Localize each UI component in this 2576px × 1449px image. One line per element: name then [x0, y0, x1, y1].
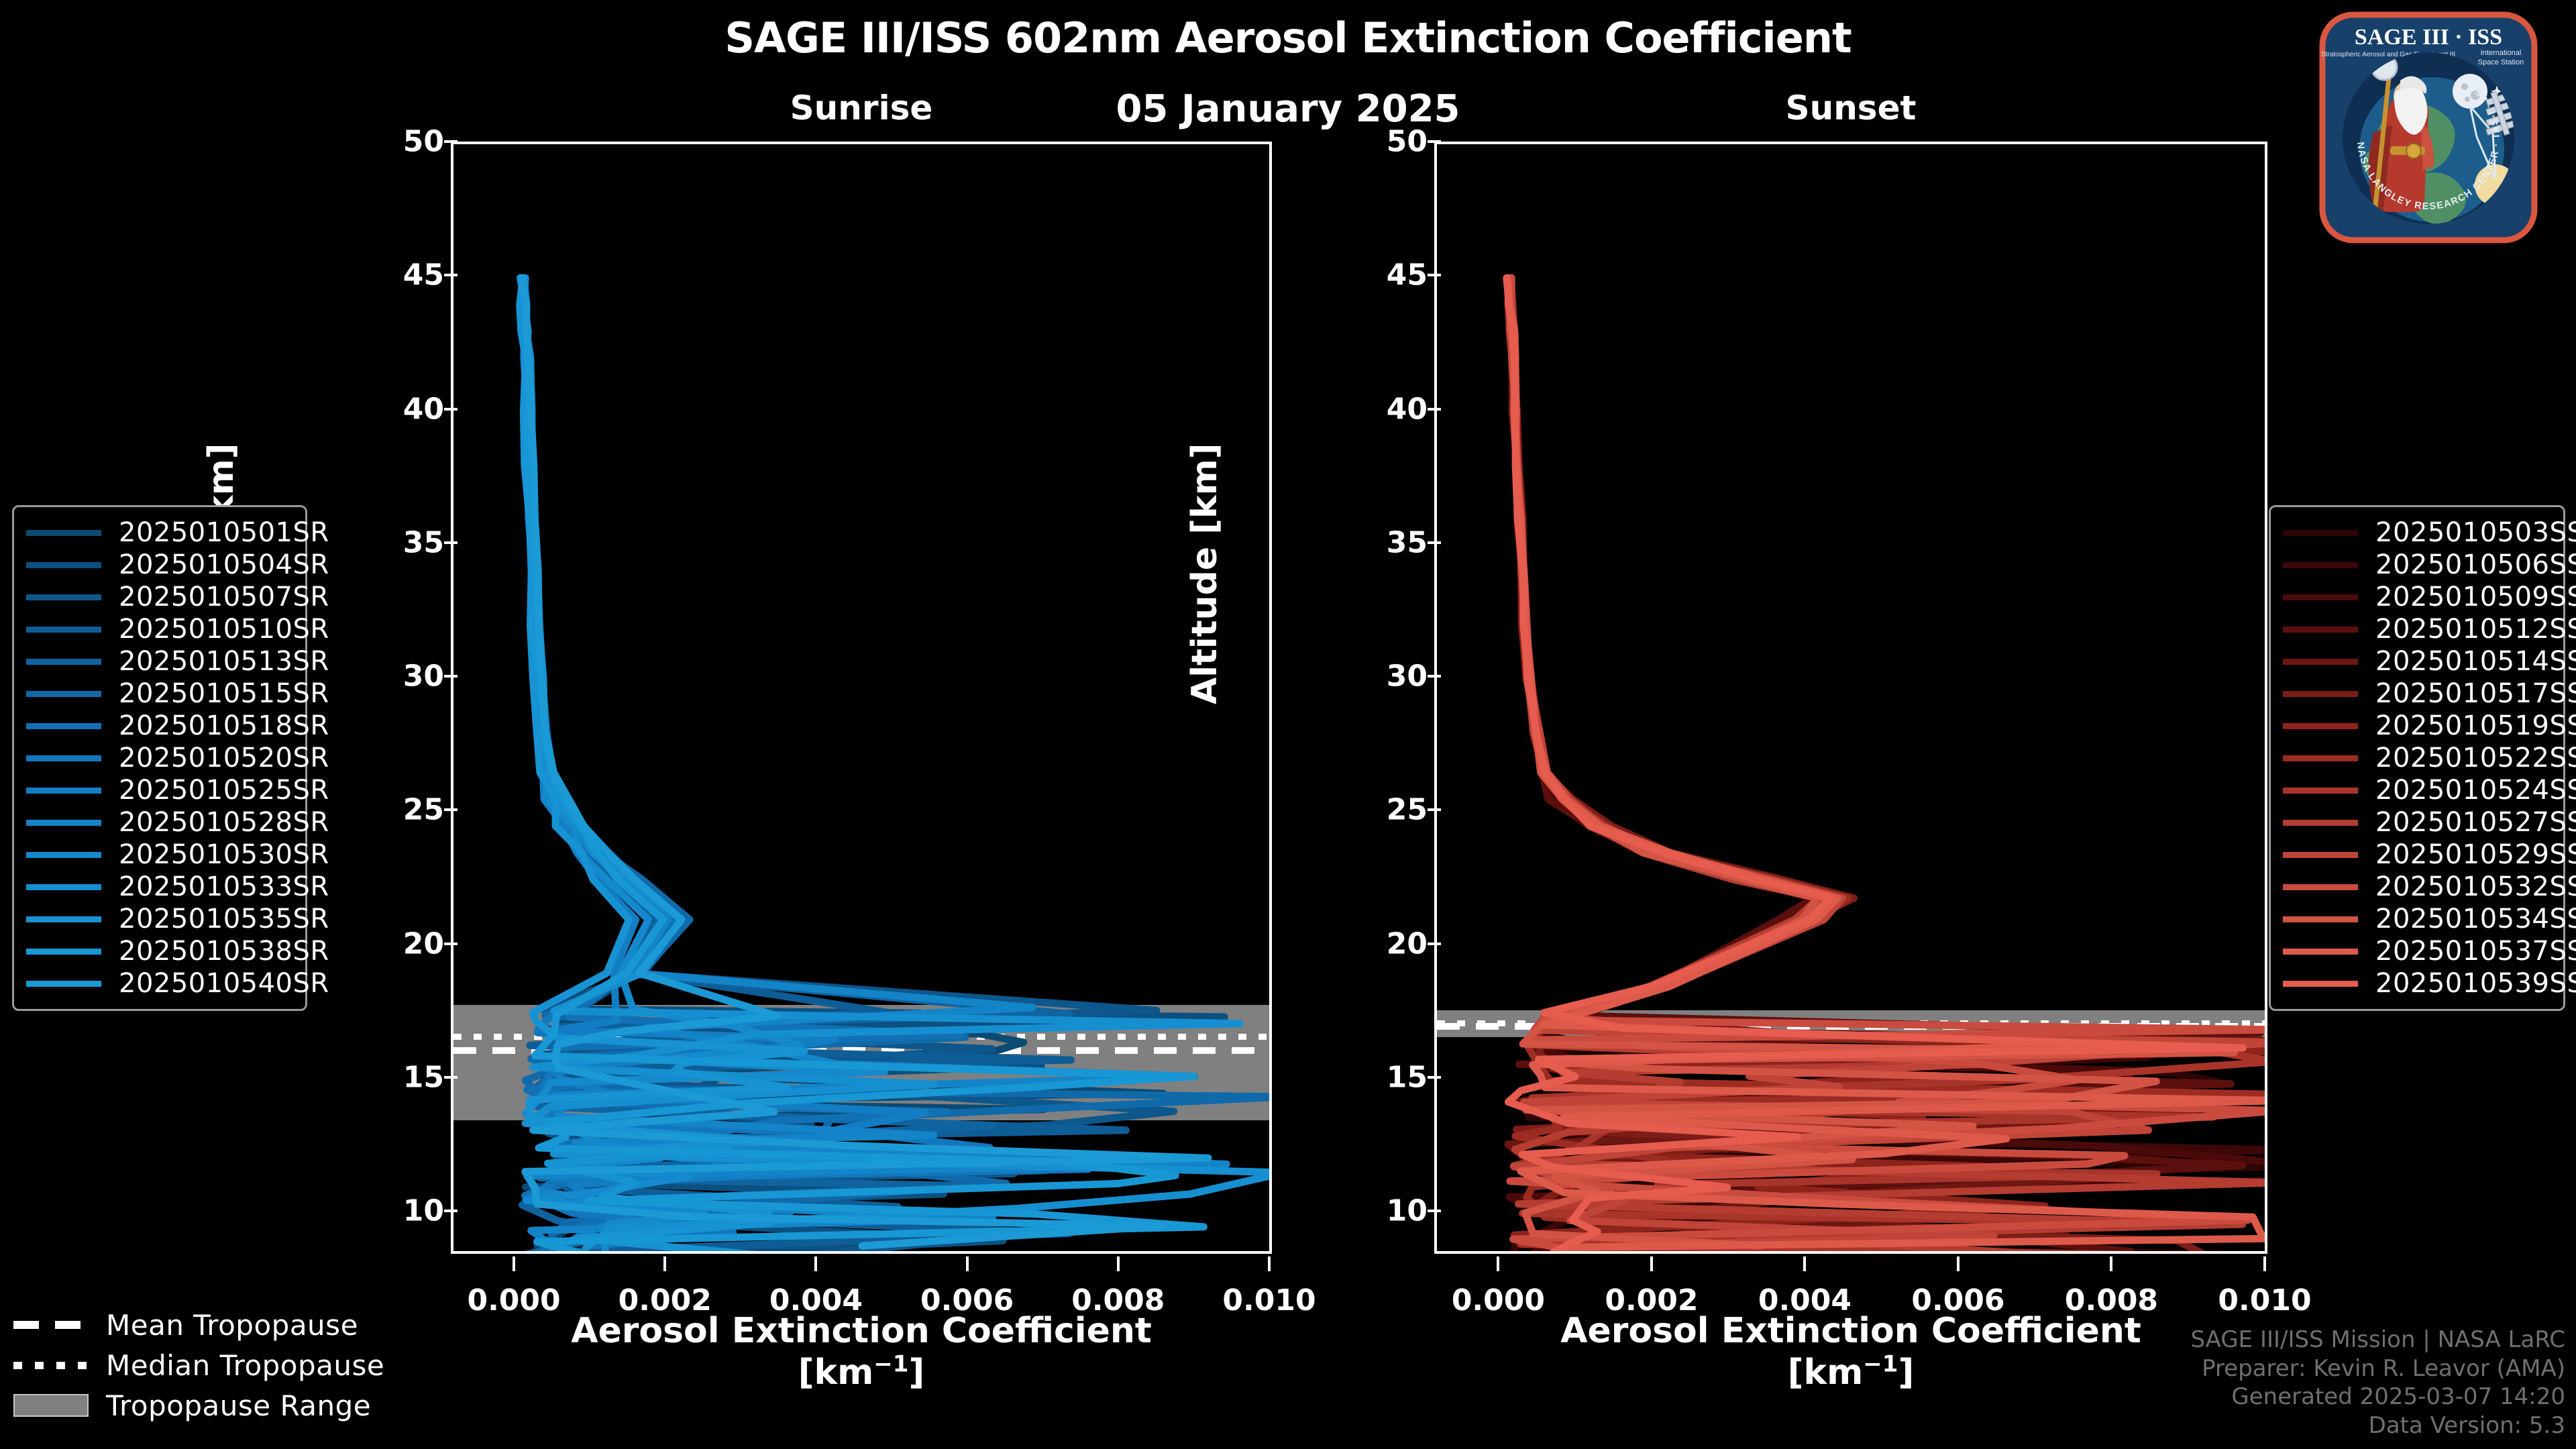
- sunset-plot-area: [1437, 144, 2265, 1251]
- legend-label: 2025010514SS: [2375, 646, 2576, 677]
- legend-label: 2025010529SS: [2375, 839, 2576, 870]
- sunset-legend[interactable]: 2025010503SS2025010506SS2025010509SS2025…: [2269, 505, 2565, 1011]
- legend-item-median-tropopause: Median Tropopause: [13, 1345, 384, 1385]
- sunset-legend-item[interactable]: 2025010519SS: [2283, 710, 2551, 742]
- sunset-legend-item[interactable]: 2025010514SS: [2283, 645, 2551, 678]
- x-tick-mark: [1957, 1256, 1960, 1271]
- x-tick-mark: [513, 1256, 515, 1271]
- y-tick-label: 40: [1320, 392, 1428, 426]
- y-tick-label: 45: [1320, 258, 1428, 292]
- y-tick-label: 20: [337, 926, 444, 961]
- y-tick-label: 15: [337, 1060, 444, 1094]
- y-tick-mark: [444, 274, 458, 276]
- footer-data-version: Data Version: 5.3: [2190, 1411, 2565, 1440]
- sunset-x-axis-label: Aerosol Extinction Coefficient: [1560, 1311, 2141, 1351]
- legend-color-swatch: [26, 659, 101, 665]
- legend-color-swatch: [2283, 530, 2358, 536]
- y-tick-mark: [444, 808, 458, 811]
- sunrise-legend-item[interactable]: 2025010520SR: [26, 742, 293, 774]
- y-tick-mark: [444, 408, 458, 411]
- logo-subtitle-right-1: International: [2481, 49, 2522, 57]
- legend-color-swatch: [2283, 949, 2358, 955]
- legend-color-swatch: [2283, 981, 2358, 987]
- page-title: SAGE III/ISS 602nm Aerosol Extinction Co…: [0, 13, 2576, 62]
- sunrise-legend-item[interactable]: 2025010510SR: [26, 613, 293, 645]
- y-tick-mark: [1428, 408, 1441, 411]
- sunrise-plot-area: [453, 144, 1269, 1251]
- footer-credit: SAGE III/ISS Mission | NASA LaRC Prepare…: [2190, 1326, 2565, 1440]
- legend-color-swatch: [26, 691, 101, 697]
- legend-color-swatch: [26, 820, 101, 826]
- legend-color-swatch: [26, 788, 101, 794]
- logo-subtitle-right-2: Space Station: [2478, 58, 2524, 66]
- x-tick-mark: [1803, 1256, 1806, 1271]
- legend-color-swatch: [26, 884, 101, 890]
- y-tick-mark: [1428, 1210, 1441, 1212]
- legend-label: 2025010539SS: [2375, 968, 2576, 999]
- sunrise-profile-curves: [453, 144, 1269, 1251]
- y-tick-label: 15: [1320, 1060, 1428, 1094]
- legend-label: 2025010512SS: [2375, 614, 2576, 645]
- sunrise-legend-item[interactable]: 2025010501SR: [26, 517, 293, 549]
- logo-title: SAGE III · ISS: [2355, 25, 2502, 50]
- y-tick-mark: [1428, 541, 1441, 544]
- legend-label: 2025010507SR: [119, 582, 329, 612]
- sunrise-legend-item[interactable]: 2025010528SR: [26, 806, 293, 839]
- y-tick-label: 25: [337, 793, 444, 827]
- x-tick-mark: [2110, 1256, 2112, 1271]
- legend-label: 2025010510SR: [119, 614, 329, 645]
- footer-generated: Generated 2025-03-07 14:20: [2190, 1383, 2565, 1411]
- sunset-legend-item[interactable]: 2025010532SS: [2283, 871, 2551, 903]
- sunset-panel-title: Sunset: [1434, 89, 2267, 127]
- legend-color-swatch: [2283, 723, 2358, 729]
- y-tick-label: 20: [1320, 926, 1428, 961]
- x-tick-mark: [663, 1256, 666, 1271]
- legend-color-swatch: [2283, 691, 2358, 697]
- legend-label: 2025010527SS: [2375, 807, 2576, 838]
- legend-label: 2025010525SR: [119, 775, 329, 806]
- legend-label: 2025010528SR: [119, 807, 329, 838]
- y-tick-label: 30: [1320, 659, 1428, 694]
- legend-color-swatch: [26, 723, 101, 729]
- sunset-y-axis: 101520253035404550: [1300, 142, 1428, 1254]
- legend-label-tropopause-range: Tropopause Range: [106, 1389, 371, 1422]
- legend-label: 2025010509SS: [2375, 582, 2576, 612]
- x-tick-mark: [2263, 1256, 2266, 1271]
- legend-color-swatch: [2283, 594, 2358, 600]
- legend-color-swatch: [2283, 755, 2358, 761]
- y-tick-label: 35: [337, 525, 444, 559]
- y-tick-mark: [1428, 274, 1441, 276]
- legend-color-swatch: [2283, 916, 2358, 922]
- legend-label: 2025010504SR: [119, 549, 329, 580]
- y-tick-label: 30: [337, 659, 444, 694]
- y-tick-label: 10: [1320, 1194, 1428, 1228]
- sunset-legend-item[interactable]: 2025010517SS: [2283, 678, 2551, 710]
- sunrise-legend-item[interactable]: 2025010535SR: [26, 903, 293, 935]
- y-tick-label: 50: [1320, 125, 1428, 159]
- sunrise-x-axis-title: Aerosol Extinction Coefficient [km−1]: [451, 1311, 1272, 1393]
- sunset-x-axis-title: Aerosol Extinction Coefficient [km−1]: [1434, 1311, 2267, 1393]
- sunrise-x-axis-label: Aerosol Extinction Coefficient: [571, 1311, 1152, 1351]
- legend-label: 2025010535SR: [119, 904, 329, 934]
- sunrise-legend-item[interactable]: 2025010538SR: [26, 935, 293, 967]
- legend-label: 2025010534SS: [2375, 904, 2576, 934]
- y-tick-mark: [1428, 675, 1441, 678]
- legend-color-swatch: [2283, 562, 2358, 568]
- sunset-legend-item[interactable]: 2025010503SS: [2283, 517, 2551, 549]
- legend-label: 2025010519SS: [2375, 710, 2576, 741]
- sunrise-legend-item[interactable]: 2025010515SR: [26, 678, 293, 710]
- y-tick-label: 50: [337, 125, 444, 159]
- y-tick-label: 45: [337, 258, 444, 292]
- x-tick-mark: [1117, 1256, 1120, 1271]
- x-tick-mark: [1268, 1256, 1271, 1271]
- sunset-legend-item[interactable]: 2025010524SS: [2283, 774, 2551, 806]
- legend-label: 2025010517SS: [2375, 678, 2576, 709]
- sunrise-legend-item[interactable]: 2025010507SR: [26, 581, 293, 613]
- legend-color-swatch: [26, 562, 101, 568]
- sunrise-legend-item[interactable]: 2025010504SR: [26, 549, 293, 581]
- y-tick-mark: [1428, 808, 1441, 811]
- y-tick-label: 40: [337, 392, 444, 426]
- sunset-legend-item[interactable]: 2025010527SS: [2283, 806, 2551, 839]
- sunset-legend-item[interactable]: 2025010506SS: [2283, 549, 2551, 581]
- sunset-plot-panel: [1434, 142, 2267, 1254]
- legend-label: 2025010503SS: [2375, 517, 2576, 548]
- dotted-line-icon: [13, 1362, 89, 1369]
- legend-item-mean-tropopause: Mean Tropopause: [13, 1305, 384, 1345]
- x-tick-mark: [814, 1256, 817, 1271]
- sunset-legend-item[interactable]: 2025010509SS: [2283, 581, 2551, 613]
- legend-label: 2025010522SS: [2375, 743, 2576, 773]
- legend-color-swatch: [26, 852, 101, 858]
- legend-color-swatch: [2283, 659, 2358, 665]
- y-tick-mark: [444, 1210, 458, 1212]
- y-tick-mark: [444, 1076, 458, 1079]
- y-tick-mark: [444, 675, 458, 678]
- y-tick-mark: [444, 943, 458, 945]
- legend-color-swatch: [2283, 627, 2358, 633]
- sunrise-legend-item[interactable]: 2025010540SR: [26, 967, 293, 1000]
- x-tick-mark: [1650, 1256, 1653, 1271]
- legend-label: 2025010518SR: [119, 710, 329, 741]
- legend-label-mean-tropopause: Mean Tropopause: [106, 1309, 358, 1342]
- tropopause-legend: Mean Tropopause Median Tropopause Tropop…: [13, 1305, 384, 1426]
- sunrise-panel-title: Sunrise: [451, 89, 1272, 127]
- y-tick-mark: [1428, 140, 1441, 143]
- legend-label: 2025010513SR: [119, 646, 329, 677]
- sunrise-x-axis-unit: [km−1]: [798, 1352, 924, 1393]
- legend-item-tropopause-range: Tropopause Range: [13, 1385, 384, 1426]
- sunset-legend-item[interactable]: 2025010539SS: [2283, 967, 2551, 1000]
- legend-label: 2025010530SR: [119, 839, 329, 870]
- sage-iii-iss-mission-patch-logo: SAGE III · ISS Stratospheric Aerosol and…: [2294, 5, 2563, 247]
- y-tick-mark: [444, 140, 458, 143]
- dashed-line-icon: [13, 1321, 89, 1329]
- legend-label: 2025010506SS: [2375, 549, 2576, 580]
- sunset-legend-item[interactable]: 2025010512SS: [2283, 613, 2551, 645]
- legend-color-swatch: [26, 916, 101, 922]
- y-tick-mark: [1428, 943, 1441, 945]
- legend-label: 2025010501SR: [119, 517, 329, 548]
- legend-color-swatch: [26, 530, 101, 536]
- legend-label: 2025010537SS: [2375, 936, 2576, 967]
- legend-color-swatch: [2283, 788, 2358, 794]
- sunrise-y-axis: 101520253035404550: [317, 142, 444, 1254]
- sunset-legend-item[interactable]: 2025010522SS: [2283, 742, 2551, 774]
- sunrise-legend-item[interactable]: 2025010513SR: [26, 645, 293, 678]
- legend-color-swatch: [2283, 820, 2358, 826]
- legend-label: 2025010524SS: [2375, 775, 2576, 806]
- filled-band-icon: [13, 1394, 89, 1417]
- legend-label: 2025010538SR: [119, 936, 329, 967]
- sunrise-legend-item[interactable]: 2025010518SR: [26, 710, 293, 742]
- legend-color-swatch: [2283, 884, 2358, 890]
- y-tick-mark: [1428, 1076, 1441, 1079]
- x-tick-mark: [1497, 1256, 1499, 1271]
- x-tick-mark: [966, 1256, 969, 1271]
- y-tick-label: 35: [1320, 525, 1428, 559]
- legend-color-swatch: [26, 755, 101, 761]
- sunrise-legend-item[interactable]: 2025010525SR: [26, 774, 293, 806]
- legend-color-swatch: [26, 627, 101, 633]
- sunrise-legend-item[interactable]: 2025010530SR: [26, 839, 293, 871]
- legend-color-swatch: [26, 949, 101, 955]
- footer-mission: SAGE III/ISS Mission | NASA LaRC: [2190, 1326, 2565, 1354]
- sunrise-legend[interactable]: 2025010501SR2025010504SR2025010507SR2025…: [12, 505, 307, 1011]
- y-tick-label: 25: [1320, 793, 1428, 827]
- y-tick-mark: [444, 541, 458, 544]
- footer-preparer: Preparer: Kevin R. Leavor (AMA): [2190, 1354, 2565, 1383]
- legend-label: 2025010520SR: [119, 743, 329, 773]
- legend-label: 2025010540SR: [119, 968, 329, 999]
- sunrise-legend-item[interactable]: 2025010533SR: [26, 871, 293, 903]
- sunset-x-axis-unit: [km−1]: [1788, 1352, 1914, 1393]
- legend-label: 2025010515SR: [119, 678, 329, 709]
- legend-label: 2025010533SR: [119, 871, 329, 902]
- legend-label-median-tropopause: Median Tropopause: [106, 1349, 384, 1382]
- sunset-legend-item[interactable]: 2025010534SS: [2283, 903, 2551, 935]
- sunrise-plot-panel: [451, 142, 1272, 1254]
- sunset-legend-item[interactable]: 2025010529SS: [2283, 839, 2551, 871]
- legend-color-swatch: [2283, 852, 2358, 858]
- legend-color-swatch: [26, 981, 101, 987]
- sunset-legend-item[interactable]: 2025010537SS: [2283, 935, 2551, 967]
- sunset-profile-curves: [1437, 144, 2265, 1251]
- y-tick-label: 10: [337, 1194, 444, 1228]
- legend-label: 2025010532SS: [2375, 871, 2576, 902]
- legend-color-swatch: [26, 594, 101, 600]
